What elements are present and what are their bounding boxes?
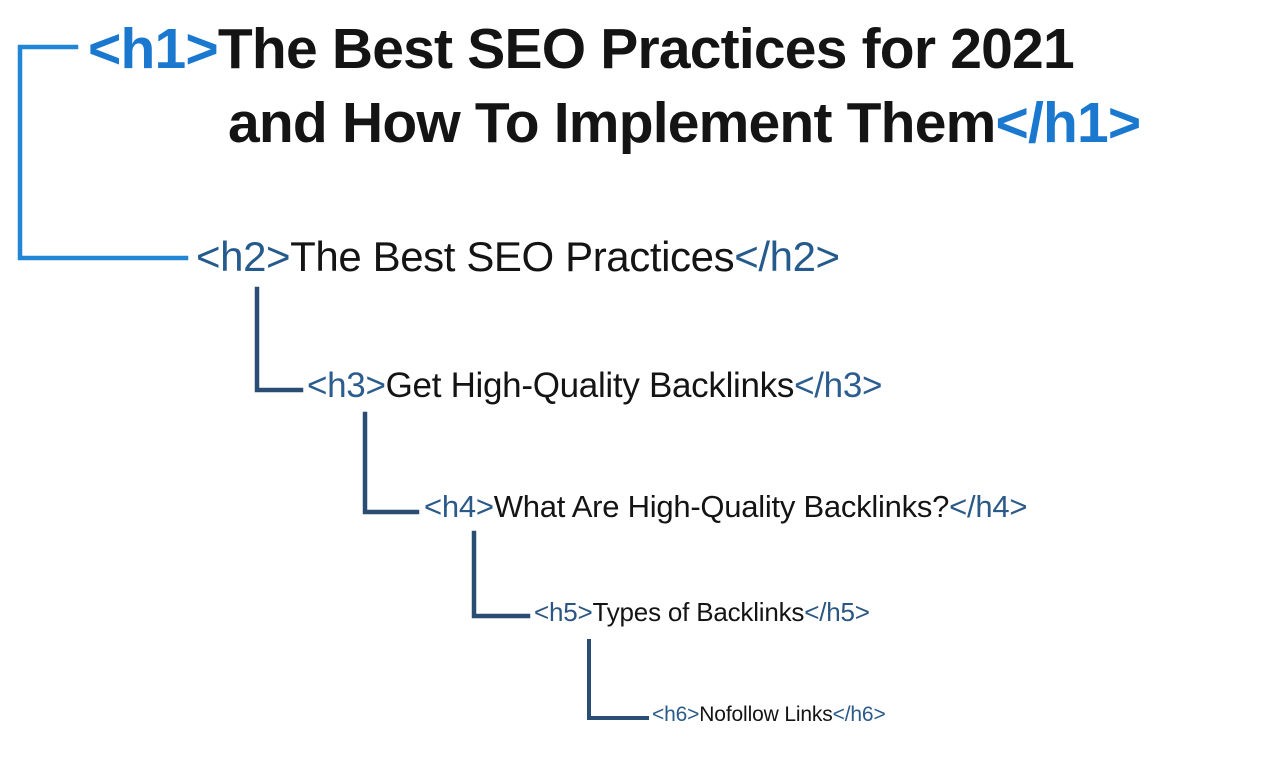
heading-node-h1: <h1>The Best SEO Practices for 2021and H…: [88, 12, 1278, 160]
h5-open-tag: <h5>: [534, 597, 593, 627]
connector-h4-to-h5: [474, 533, 528, 616]
h4-open-tag: <h4>: [424, 489, 494, 524]
h2-close-tag: </h2>: [734, 233, 839, 280]
h3-text: Get High-Quality Backlinks: [386, 366, 794, 405]
h1-text-line-2: and How To Implement Them: [228, 91, 995, 155]
connector-h5-to-h6: [589, 641, 647, 718]
heading-node-h4: <h4>What Are High-Quality Backlinks?</h4…: [424, 487, 1027, 527]
heading-node-h3: <h3>Get High-Quality Backlinks</h3>: [307, 364, 882, 408]
h2-open-tag: <h2>: [196, 233, 290, 280]
h4-text: What Are High-Quality Backlinks?: [494, 489, 949, 524]
h1-open-tag: <h1>: [88, 17, 218, 81]
h6-text: Nofollow Links: [699, 703, 832, 726]
h5-text: Types of Backlinks: [593, 597, 805, 627]
connector-h2-to-h3: [257, 289, 301, 390]
h4-close-tag: </h4>: [949, 489, 1027, 524]
h1-close-tag: </h1>: [995, 91, 1140, 155]
diagram-canvas: <h1>The Best SEO Practices for 2021and H…: [0, 0, 1288, 758]
heading-node-h6: <h6>Nofollow Links</h6>: [652, 701, 886, 729]
h6-close-tag: </h6>: [833, 703, 886, 726]
heading-node-h5: <h5>Types of Backlinks</h5>: [534, 595, 870, 629]
h5-close-tag: </h5>: [804, 597, 870, 627]
h3-open-tag: <h3>: [307, 366, 386, 405]
h1-text-line-1: The Best SEO Practices for 2021: [218, 17, 1074, 81]
heading-node-h2: <h2>The Best SEO Practices</h2>: [196, 231, 840, 283]
h6-open-tag: <h6>: [652, 703, 699, 726]
h2-text: The Best SEO Practices: [290, 233, 734, 280]
connector-h3-to-h4: [365, 414, 417, 512]
h3-close-tag: </h3>: [794, 366, 882, 405]
